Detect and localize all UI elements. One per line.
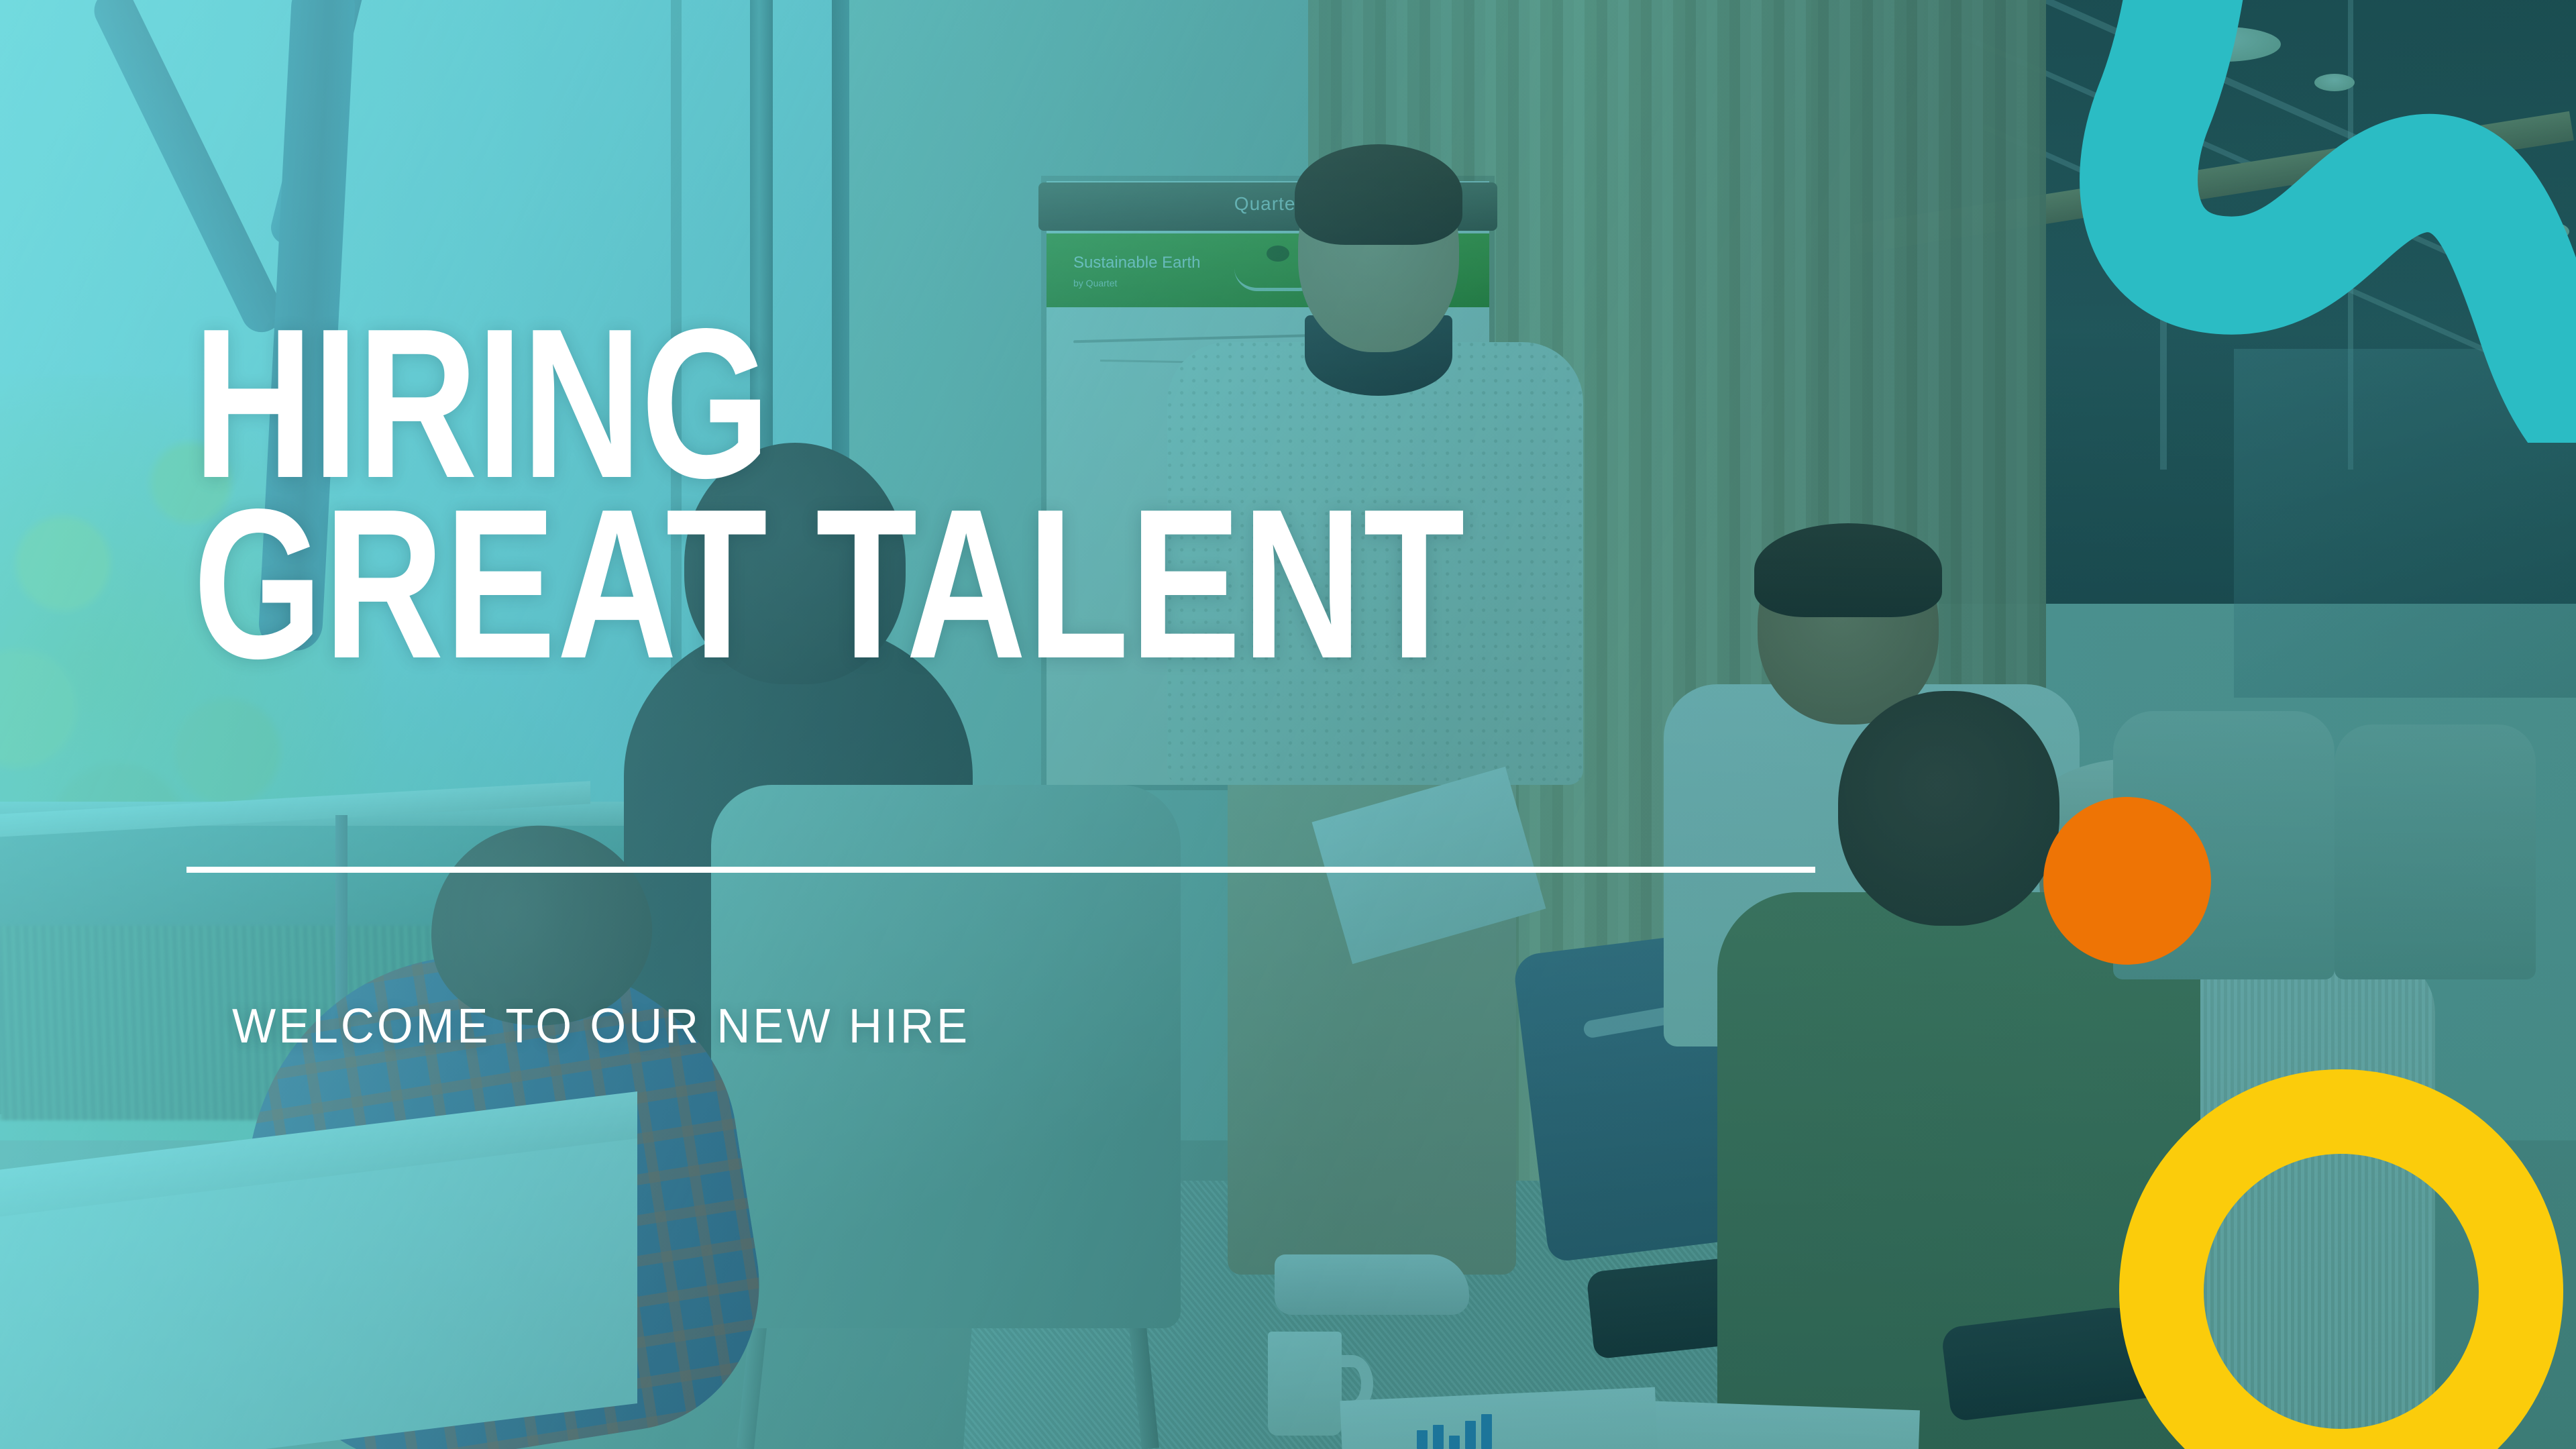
- headline-line-2: GREAT TALENT: [193, 465, 1466, 703]
- subtitle: WELCOME TO OUR NEW HIRE: [232, 999, 970, 1054]
- title-divider-rule: [186, 867, 1815, 873]
- page-title: HIRINGGREAT TALENT: [193, 314, 1466, 674]
- background-photo-office-meeting: Sustainable Earth by Quartet Quartet: [0, 0, 2576, 1449]
- hiring-banner: Sustainable Earth by Quartet Quartet: [0, 0, 2576, 1449]
- brand-color-wash: [0, 0, 2576, 1449]
